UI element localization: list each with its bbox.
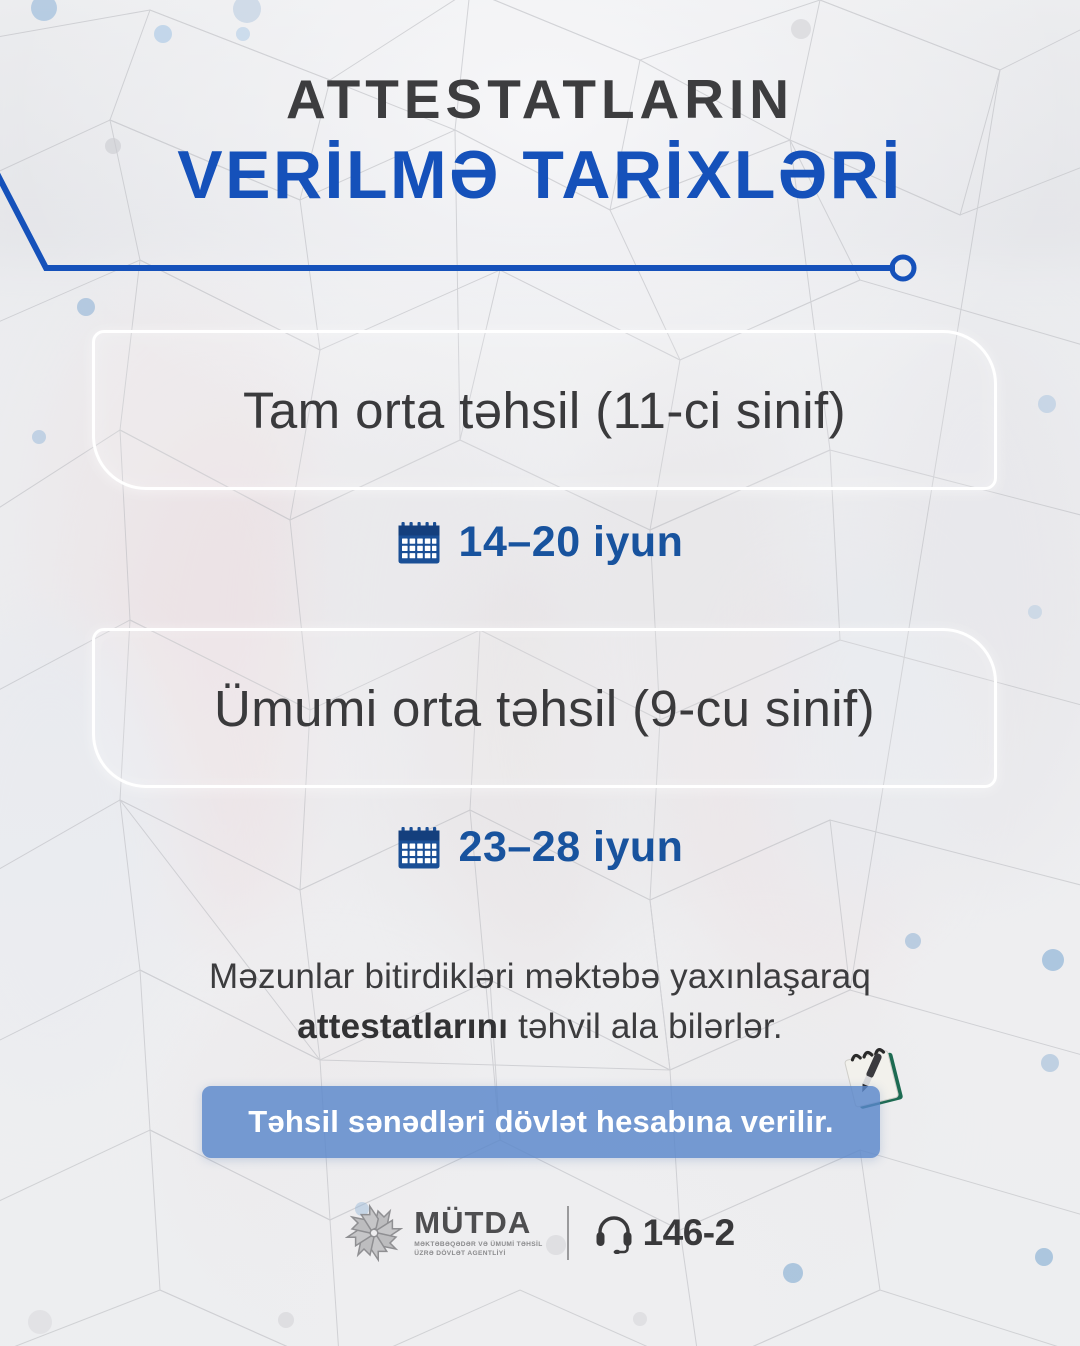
footer: MÜTDA MƏKTƏBƏQƏDƏR VƏ ÜMUMİ TƏHSİL ÜZRƏ … (0, 1204, 1080, 1262)
education-card-secondary-full: Tam orta təhsil (11-ci sinif) (92, 330, 997, 490)
info-paragraph: Məzunlar bitirdikləri məktəbə yaxınlaşar… (0, 952, 1080, 1051)
date-text: 23–28 iyun (459, 823, 684, 872)
state-funded-banner: Təhsil sənədləri dövlət hesabına verilir… (202, 1086, 880, 1158)
brand-subtitle-line-2: ÜZRƏ DÖVLƏT AGENTLİYİ (414, 1250, 505, 1257)
card-label: Tam orta təhsil (11-ci sinif) (243, 381, 846, 440)
page-title-top: ATTESTATLARIN (0, 70, 1080, 129)
banner-text: Təhsil sənədləri dövlət hesabına verilir… (248, 1104, 833, 1140)
brand-text-block: MÜTDA MƏKTƏBƏQƏDƏR VƏ ÜMUMİ TƏHSİL ÜZRƏ … (414, 1207, 542, 1259)
calendar-icon (397, 521, 441, 565)
calendar-icon (397, 826, 441, 870)
date-text: 14–20 iyun (459, 518, 684, 567)
headset-icon (593, 1212, 635, 1254)
hotline-number: 146-2 (643, 1212, 735, 1254)
date-row-general-secondary: 23–28 iyun (0, 823, 1080, 872)
brand-subtitle: MƏKTƏBƏQƏDƏR VƏ ÜMUMİ TƏHSİL ÜZRƏ DÖVLƏT… (414, 1241, 542, 1259)
brand-subtitle-line-1: MƏKTƏBƏQƏDƏR VƏ ÜMUMİ TƏHSİL (414, 1241, 542, 1248)
paragraph-line-1: Məzunlar bitirdikləri məktəbə yaxınlaşar… (209, 957, 871, 996)
poster-root: ATTESTATLARIN VERİLMƏ TARİXLƏRİ Tam orta… (0, 0, 1080, 1346)
hotline-block: 146-2 (593, 1212, 735, 1254)
brand-name: MÜTDA (414, 1207, 542, 1238)
mutda-rosette-logo-icon (345, 1204, 403, 1262)
header: ATTESTATLARIN VERİLMƏ TARİXLƏRİ (0, 70, 1080, 214)
page-title-main: VERİLMƏ TARİXLƏRİ (0, 137, 1080, 213)
date-row-full-secondary: 14–20 iyun (0, 518, 1080, 567)
brand-block: MÜTDA MƏKTƏBƏQƏDƏR VƏ ÜMUMİ TƏHSİL ÜZRƏ … (345, 1204, 542, 1262)
paragraph-line-2-tail: təhvil ala bilərlər. (508, 1007, 783, 1046)
education-card-general-secondary: Ümumi orta təhsil (9-cu sinif) (92, 628, 997, 788)
card-label: Ümumi orta təhsil (9-cu sinif) (214, 679, 875, 738)
paragraph-bold-word: attestatlarını (297, 1007, 508, 1046)
footer-divider (567, 1206, 569, 1260)
